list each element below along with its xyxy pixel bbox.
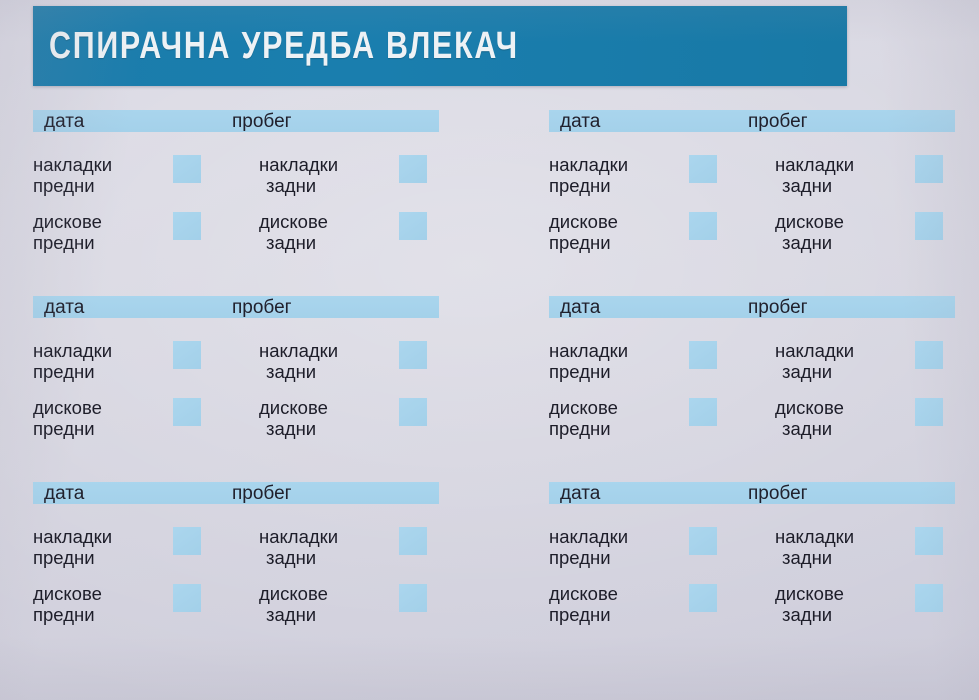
entry-label-line2: предни xyxy=(33,547,112,568)
entry-value-box[interactable] xyxy=(915,212,943,240)
entry-label-line2: задни xyxy=(775,547,854,568)
service-entry: накладкизадни xyxy=(775,526,854,568)
date-label: дата xyxy=(560,298,600,317)
service-entry: накладкизадни xyxy=(775,340,854,382)
service-record-block: датапробегнакладкипреднинакладкизаднидис… xyxy=(549,110,955,296)
entry-row: накладкипреднинакладкизадни xyxy=(33,340,439,397)
entry-row: дисковепреднидисковезадни xyxy=(549,583,955,640)
entry-label: накладкипредни xyxy=(549,154,628,196)
entry-value-box[interactable] xyxy=(399,584,427,612)
entry-value-box[interactable] xyxy=(399,341,427,369)
entry-label-line1: дискове xyxy=(33,397,102,418)
odometer-label: пробег xyxy=(232,298,292,317)
service-record-block: датапробегнакладкипреднинакладкизаднидис… xyxy=(549,296,955,482)
service-entry: накладкипредни xyxy=(33,154,112,196)
block-header-bar: датапробег xyxy=(549,110,955,132)
service-entry: накладкипредни xyxy=(33,340,112,382)
date-label: дата xyxy=(44,484,84,503)
odometer-label: пробег xyxy=(232,484,292,503)
entry-value-box[interactable] xyxy=(689,341,717,369)
entry-label-line2: задни xyxy=(259,175,338,196)
entry-label-line2: предни xyxy=(33,175,112,196)
entry-label: дисковезадни xyxy=(259,211,328,253)
date-label: дата xyxy=(560,112,600,131)
block-entry-rows: накладкипреднинакладкизаднидисковепредни… xyxy=(33,340,439,454)
block-header-bar: датапробег xyxy=(33,482,439,504)
date-label: дата xyxy=(44,298,84,317)
entry-value-box[interactable] xyxy=(173,584,201,612)
entry-label: дисковезадни xyxy=(775,211,844,253)
date-label: дата xyxy=(44,112,84,131)
entry-label-line2: задни xyxy=(775,361,854,382)
entry-label-line1: дискове xyxy=(259,583,328,604)
entry-label-line2: задни xyxy=(259,232,328,253)
service-entry: дисковезадни xyxy=(775,583,844,625)
entry-value-box[interactable] xyxy=(399,527,427,555)
entry-label-line2: задни xyxy=(775,604,844,625)
entry-label: дисковепредни xyxy=(33,583,102,625)
service-record-block: датапробегнакладкипреднинакладкизаднидис… xyxy=(33,296,439,482)
block-entry-rows: накладкипреднинакладкизаднидисковепредни… xyxy=(549,340,955,454)
entry-label-line1: дискове xyxy=(775,583,844,604)
service-entry: дисковепредни xyxy=(549,211,618,253)
entry-label: дисковепредни xyxy=(549,583,618,625)
entry-label-line2: предни xyxy=(549,418,618,439)
entry-value-box[interactable] xyxy=(399,155,427,183)
service-entry: накладкипредни xyxy=(549,154,628,196)
entry-label-line2: предни xyxy=(549,604,618,625)
entry-label-line2: предни xyxy=(33,418,102,439)
entry-label-line2: предни xyxy=(33,361,112,382)
entry-label: накладкипредни xyxy=(33,154,112,196)
entry-value-box[interactable] xyxy=(689,212,717,240)
service-entry: дисковезадни xyxy=(259,211,328,253)
entry-label: дисковезадни xyxy=(259,583,328,625)
entry-label-line1: накладки xyxy=(33,526,112,547)
entry-label: накладкизадни xyxy=(259,340,338,382)
entry-label-line2: предни xyxy=(33,232,102,253)
service-entry: дисковезадни xyxy=(259,397,328,439)
date-label: дата xyxy=(560,484,600,503)
entry-value-box[interactable] xyxy=(915,341,943,369)
entry-value-box[interactable] xyxy=(173,341,201,369)
service-record-block: датапробегнакладкипреднинакладкизаднидис… xyxy=(33,110,439,296)
service-entry: накладкипредни xyxy=(33,526,112,568)
entry-row: дисковепреднидисковезадни xyxy=(33,397,439,454)
entry-label-line2: предни xyxy=(549,361,628,382)
entry-label-line1: накладки xyxy=(775,154,854,175)
entry-label-line1: дискове xyxy=(33,211,102,232)
entry-label: накладкипредни xyxy=(33,340,112,382)
entry-label-line1: накладки xyxy=(259,154,338,175)
entry-label-line2: задни xyxy=(259,547,338,568)
entry-label: накладкипредни xyxy=(549,340,628,382)
entry-label: дисковепредни xyxy=(549,397,618,439)
entry-label-line1: дискове xyxy=(775,211,844,232)
entry-label-line2: задни xyxy=(259,361,338,382)
service-record-block: датапробегнакладкипреднинакладкизаднидис… xyxy=(33,482,439,668)
entry-label: накладкизадни xyxy=(775,526,854,568)
entry-label-line2: задни xyxy=(775,232,844,253)
entry-label-line2: задни xyxy=(259,418,328,439)
entry-value-box[interactable] xyxy=(173,212,201,240)
entry-label: дисковепредни xyxy=(33,211,102,253)
entry-value-box[interactable] xyxy=(173,527,201,555)
entry-label: дисковезадни xyxy=(259,397,328,439)
entry-label-line1: накладки xyxy=(549,526,628,547)
entry-value-box[interactable] xyxy=(915,527,943,555)
entry-label: дисковезадни xyxy=(775,397,844,439)
entry-label: накладкизадни xyxy=(259,526,338,568)
entry-label-line1: накладки xyxy=(549,340,628,361)
entry-value-box[interactable] xyxy=(915,155,943,183)
odometer-label: пробег xyxy=(232,112,292,131)
odometer-label: пробег xyxy=(748,112,808,131)
entry-label-line1: дискове xyxy=(259,397,328,418)
entry-label-line1: дискове xyxy=(775,397,844,418)
entry-value-box[interactable] xyxy=(915,584,943,612)
entry-value-box[interactable] xyxy=(689,155,717,183)
entry-row: накладкипреднинакладкизадни xyxy=(549,526,955,583)
entry-value-box[interactable] xyxy=(689,584,717,612)
entry-row: дисковепреднидисковезадни xyxy=(33,211,439,268)
entry-label-line2: предни xyxy=(549,232,618,253)
entry-label: накладкипредни xyxy=(33,526,112,568)
entry-value-box[interactable] xyxy=(173,155,201,183)
service-entry: дисковепредни xyxy=(549,583,618,625)
entry-value-box[interactable] xyxy=(915,398,943,426)
block-header-bar: датапробег xyxy=(33,110,439,132)
entry-label-line1: накладки xyxy=(775,526,854,547)
entry-label: накладкизадни xyxy=(775,340,854,382)
service-entry: накладкизадни xyxy=(259,154,338,196)
service-record-block: датапробегнакладкипреднинакладкизаднидис… xyxy=(549,482,955,668)
entry-label-line1: накладки xyxy=(775,340,854,361)
entry-label-line2: задни xyxy=(259,604,328,625)
service-entry: дисковепредни xyxy=(549,397,618,439)
service-entry: дисковезадни xyxy=(775,397,844,439)
odometer-label: пробег xyxy=(748,298,808,317)
entry-label-line2: задни xyxy=(775,418,844,439)
entry-label-line1: дискове xyxy=(33,583,102,604)
entry-label: накладкизадни xyxy=(259,154,338,196)
block-header-bar: датапробег xyxy=(33,296,439,318)
entry-label-line1: накладки xyxy=(549,154,628,175)
entry-label-line2: предни xyxy=(549,175,628,196)
service-entry: дисковезадни xyxy=(775,211,844,253)
entry-value-box[interactable] xyxy=(689,527,717,555)
odometer-label: пробег xyxy=(748,484,808,503)
entry-row: накладкипреднинакладкизадни xyxy=(33,154,439,211)
entry-value-box[interactable] xyxy=(399,398,427,426)
entry-label-line1: накладки xyxy=(33,340,112,361)
entry-label-line2: предни xyxy=(33,604,102,625)
block-entry-rows: накладкипреднинакладкизаднидисковепредни… xyxy=(549,526,955,640)
entry-label: накладкизадни xyxy=(775,154,854,196)
entry-label-line1: накладки xyxy=(259,340,338,361)
entry-label-line1: накладки xyxy=(259,526,338,547)
header-banner: СПИРАЧНА УРЕДБА ВЛЕКАЧ xyxy=(33,6,847,86)
entry-label: дисковепредни xyxy=(549,211,618,253)
entry-value-box[interactable] xyxy=(173,398,201,426)
entry-label: дисковезадни xyxy=(775,583,844,625)
entry-label: дисковепредни xyxy=(33,397,102,439)
service-entry: дисковепредни xyxy=(33,397,102,439)
entry-value-box[interactable] xyxy=(689,398,717,426)
entry-row: дисковепреднидисковезадни xyxy=(549,211,955,268)
paper-sheet: СПИРАЧНА УРЕДБА ВЛЕКАЧ датапробегнакладк… xyxy=(0,0,979,700)
entry-label-line1: накладки xyxy=(33,154,112,175)
block-header-bar: датапробег xyxy=(549,482,955,504)
entry-row: дисковепреднидисковезадни xyxy=(33,583,439,640)
entry-row: накладкипреднинакладкизадни xyxy=(33,526,439,583)
service-entry: накладкипредни xyxy=(549,340,628,382)
service-entry: дисковепредни xyxy=(33,211,102,253)
entry-label-line1: дискове xyxy=(549,397,618,418)
entry-label-line2: задни xyxy=(775,175,854,196)
entry-row: накладкипреднинакладкизадни xyxy=(549,340,955,397)
entry-value-box[interactable] xyxy=(399,212,427,240)
entry-label: накладкипредни xyxy=(549,526,628,568)
block-entry-rows: накладкипреднинакладкизаднидисковепредни… xyxy=(33,154,439,268)
entry-label-line2: предни xyxy=(549,547,628,568)
page-title: СПИРАЧНА УРЕДБА ВЛЕКАЧ xyxy=(49,27,519,65)
service-record-grid: датапробегнакладкипреднинакладкизаднидис… xyxy=(33,110,955,670)
service-entry: дисковепредни xyxy=(33,583,102,625)
service-entry: дисковезадни xyxy=(259,583,328,625)
service-entry: накладкизадни xyxy=(259,526,338,568)
block-header-bar: датапробег xyxy=(549,296,955,318)
service-entry: накладкизадни xyxy=(259,340,338,382)
service-entry: накладкипредни xyxy=(549,526,628,568)
entry-row: дисковепреднидисковезадни xyxy=(549,397,955,454)
block-entry-rows: накладкипреднинакладкизаднидисковепредни… xyxy=(33,526,439,640)
block-entry-rows: накладкипреднинакладкизаднидисковепредни… xyxy=(549,154,955,268)
entry-label-line1: дискове xyxy=(549,211,618,232)
service-entry: накладкизадни xyxy=(775,154,854,196)
entry-row: накладкипреднинакладкизадни xyxy=(549,154,955,211)
entry-label-line1: дискове xyxy=(259,211,328,232)
entry-label-line1: дискове xyxy=(549,583,618,604)
